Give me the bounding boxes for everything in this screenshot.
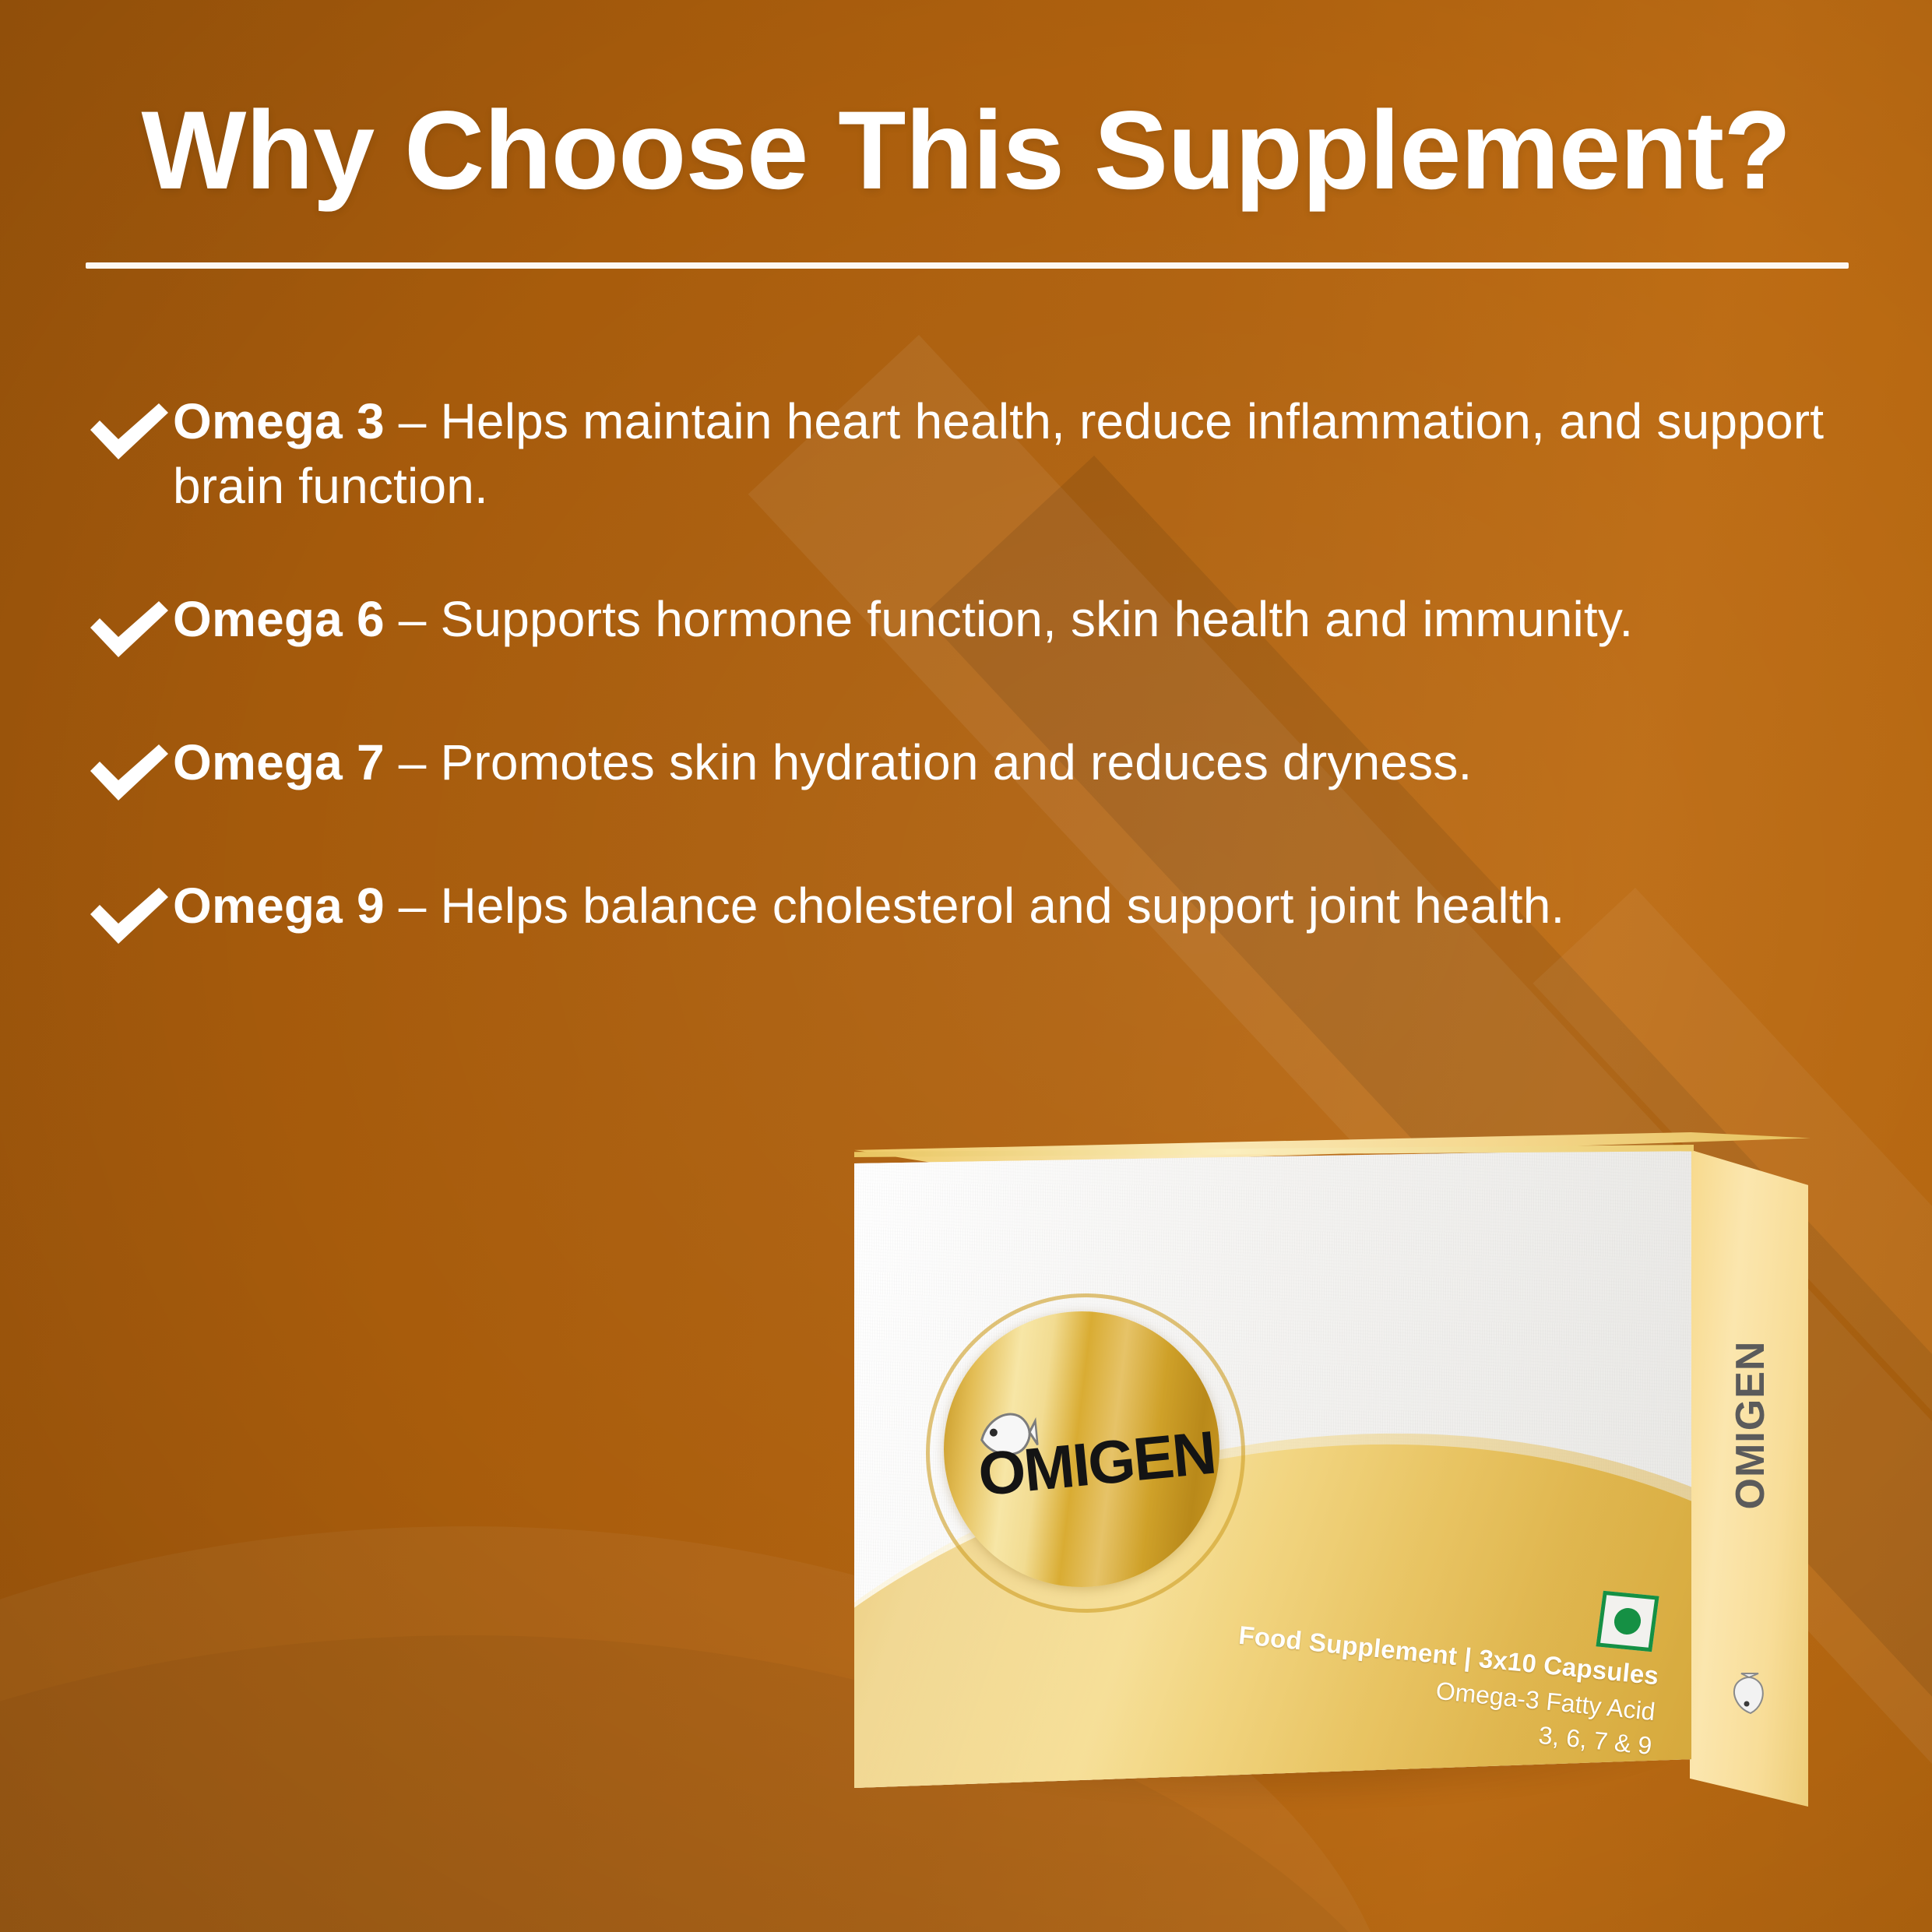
promo-banner: Why Choose This Supplement? Omega 3 – He… (0, 0, 1932, 1932)
list-item: Omega 9 – Helps balance cholesterol and … (86, 874, 1869, 948)
list-item-description: Supports hormone function, skin health a… (441, 591, 1634, 647)
list-item-separator: – (385, 734, 441, 790)
list-item-text: Omega 7 – Promotes skin hydration and re… (173, 730, 1869, 795)
list-item-text: Omega 3 – Helps maintain heart health, r… (173, 389, 1869, 519)
logo-disc: OMIGEN (944, 1311, 1219, 1587)
list-item-separator: – (385, 393, 441, 449)
check-icon (86, 587, 173, 662)
list-item-label: Omega 7 (173, 734, 385, 790)
list-item-separator: – (385, 878, 441, 934)
list-item-description: Promotes skin hydration and reduces dryn… (441, 734, 1473, 790)
check-icon (86, 874, 173, 948)
product-box-side-panel: OMIGEN (1690, 1137, 1808, 1807)
page-title: Why Choose This Supplement? (0, 92, 1932, 210)
vegetarian-mark-icon (1596, 1591, 1659, 1652)
list-item-text: Omega 9 – Helps balance cholesterol and … (173, 874, 1869, 938)
fish-icon (1727, 1673, 1768, 1716)
benefits-list: Omega 3 – Helps maintain heart health, r… (86, 389, 1869, 1017)
list-item-separator: – (385, 591, 441, 647)
list-item: Omega 3 – Helps maintain heart health, r… (86, 389, 1869, 519)
product-box: OMIGEN (841, 1114, 1822, 1814)
list-item-label: Omega 6 (173, 591, 385, 647)
list-item-description: Helps balance cholesterol and support jo… (441, 878, 1565, 934)
check-icon (86, 389, 173, 464)
product-box-front-face: OMIGEN Food Supplement | 3x10 Capsules O… (854, 1149, 1691, 1788)
list-item: Omega 7 – Promotes skin hydration and re… (86, 730, 1869, 805)
list-item-text: Omega 6 – Supports hormone function, ski… (173, 587, 1869, 652)
check-icon (86, 730, 173, 805)
title-divider (86, 262, 1849, 269)
list-item-label: Omega 9 (173, 878, 385, 934)
list-item: Omega 6 – Supports hormone function, ski… (86, 587, 1869, 662)
list-item-label: Omega 3 (173, 393, 385, 449)
side-brand-name: OMIGEN (1727, 1262, 1774, 1589)
vegetarian-mark-dot (1613, 1606, 1642, 1635)
